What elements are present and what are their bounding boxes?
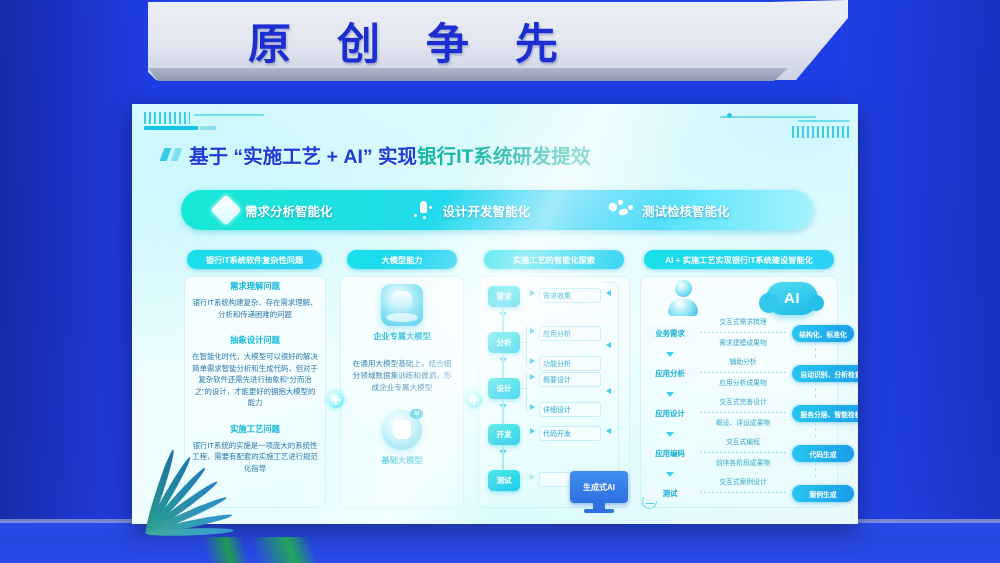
tag-vline	[815, 382, 816, 400]
flow-left-arrow	[606, 388, 611, 394]
flow-task-code-development[interactable]: 代码开发	[539, 426, 601, 441]
column-header-process-exploration[interactable]: 实施工艺的智能化探索	[484, 250, 624, 269]
stage-application-design[interactable]: 应用设计	[644, 406, 696, 421]
flow-right-arrow	[530, 374, 535, 380]
pill-design-development[interactable]: 设计开发智能化	[411, 199, 531, 221]
column-4-content: AI 业务需求 交互式需求梳理 需求建模成果物 结构化、标准化 应用分析 辅助分…	[644, 280, 836, 506]
artifact-top-3: 交互式完善设计	[700, 396, 786, 406]
stage-down-arrow	[666, 392, 674, 397]
ai-tag-code-generation[interactable]: 代码生成	[792, 445, 854, 462]
banner-bottom-edge	[148, 68, 788, 81]
poster-board: 基于 “实施工艺 + AI” 实现银行IT系统研发提效 需求分析智能化 设计开发…	[132, 104, 858, 524]
body-requirement-understanding: 银行IT系统构建复杂、存在需求理解、分析和传递困难的问题	[188, 297, 322, 320]
wall-shadow-right	[840, 0, 1000, 563]
flow-right-arrow	[530, 328, 535, 334]
flow-left-arrow	[606, 428, 611, 434]
flow-vline	[502, 399, 504, 425]
artifact-top-1: 交互式需求梳理	[700, 316, 786, 326]
artifact-bottom-4: 前序各阶段成果物	[700, 457, 786, 467]
poster-title-accent: 银行IT系统研发提效	[417, 146, 590, 168]
artifact-bottom-1: 需求建模成果物	[700, 337, 786, 347]
flow-right-arrow	[530, 404, 535, 410]
enterprise-model-robot-icon	[381, 284, 423, 326]
tag-vline	[815, 422, 816, 440]
tech-decoration-top-right	[690, 114, 850, 140]
ai-tag-case-generation[interactable]: 案例生成	[792, 485, 854, 502]
dotted-connector	[700, 492, 786, 493]
column-header-ai-implementation[interactable]: AI + 实施工艺实现银行IT系统建设智能化	[644, 250, 834, 269]
flow-left-arrow	[606, 290, 611, 296]
stage-application-analysis[interactable]: 应用分析	[644, 366, 696, 381]
flow-brace	[526, 372, 527, 412]
flow-stage-test[interactable]: 测试	[488, 470, 520, 491]
check-icon	[608, 199, 634, 221]
column-2-content: 企业专属大模型 在通用大模型基础上，结合细分领域数据集训练和微调，形成企业专属大…	[344, 282, 460, 466]
flow-task-function-analysis[interactable]: 功能分析	[539, 356, 601, 371]
dotted-connector	[700, 372, 786, 373]
stage-test[interactable]: 测试	[644, 486, 696, 501]
body-llm-capability: 在通用大模型基础上，结合细分领域数据集训练和微调，形成企业专属大模型	[350, 358, 454, 394]
poster-title-main: 基于 “实施工艺 + AI” 实现	[189, 146, 417, 168]
flow-stage-requirement[interactable]: 需求	[488, 286, 520, 307]
poster-title: 基于 “实施工艺 + AI” 实现银行IT系统研发提效	[162, 140, 590, 169]
diamond-icon	[210, 194, 241, 225]
avatar-body	[668, 299, 698, 316]
artifact-bottom-2: 应用分析成果物	[700, 377, 786, 387]
artifact-top-2: 辅助分析	[700, 356, 786, 366]
flow-brace	[526, 326, 527, 366]
spark-icon	[411, 199, 435, 221]
dotted-connector	[700, 412, 786, 413]
dotted-connector	[700, 332, 786, 333]
flow-right-arrow	[530, 358, 535, 364]
ai-cloud-icon: AI	[766, 282, 818, 315]
stage-down-arrow	[666, 352, 674, 357]
flow-stage-design[interactable]: 设计	[488, 378, 520, 399]
body-abstract-design: 在智能化时代，大模型可以很好的解决简单需求智能分析和生成代码，但对于复杂软件还需…	[188, 351, 322, 409]
stage-down-arrow	[666, 432, 674, 437]
artifact-top-4: 交互式编程	[700, 436, 786, 446]
pill-requirement-analysis[interactable]: 需求分析智能化	[215, 199, 333, 221]
flow-task-application-analysis[interactable]: 应用分析	[539, 326, 601, 341]
user-avatar-icon	[666, 280, 700, 320]
dotted-connector	[700, 452, 786, 453]
flow-vline	[502, 307, 504, 333]
column-header-llm-capability[interactable]: 大模型能力	[347, 250, 457, 269]
monitor-base	[584, 509, 614, 513]
flow-right-arrow	[530, 290, 535, 296]
generative-ai-monitor[interactable]: 生成式AI	[570, 471, 628, 515]
tag-vline	[815, 342, 816, 360]
tech-decoration-top-left	[144, 112, 284, 134]
flow-vline	[502, 445, 504, 471]
wall-shadow-left	[0, 0, 150, 563]
flow-hline	[520, 342, 527, 343]
stage-application-coding[interactable]: 应用编码	[644, 446, 696, 461]
avatar-head	[675, 280, 692, 297]
subhead-requirement-understanding: 需求理解问题	[188, 280, 322, 292]
subhead-implementation-process: 实施工艺问题	[188, 423, 322, 435]
ai-tag-service-layering[interactable]: 服务分层、智能检核	[792, 405, 858, 422]
subhead-abstract-design: 抽象设计问题	[188, 334, 322, 346]
artifact-top-5: 交互式案例设计	[700, 476, 786, 486]
tag-vline	[815, 462, 816, 480]
feature-pill-bar: 需求分析智能化 设计开发智能化 测试检核智能化	[181, 190, 813, 230]
flow-stage-development[interactable]: 开发	[488, 424, 520, 445]
flow-hline	[520, 388, 527, 389]
pill-test-verification[interactable]: 测试检核智能化	[608, 199, 730, 221]
column-header-complexity[interactable]: 银行IT系统软件复杂性问题	[187, 250, 322, 269]
plus-connector-icon	[466, 392, 482, 408]
flow-right-arrow	[530, 428, 535, 434]
pill-label: 设计开发智能化	[443, 201, 531, 220]
ai-tag-auto-recognition[interactable]: 自动识别、分析检查	[792, 365, 858, 382]
caption-base-model: 基础大模型	[344, 454, 460, 466]
floor	[0, 521, 1000, 563]
body-implementation-process: 银行IT系统的实施是一项庞大的系统性工程，需要有配套的实施工艺进行规范化指导	[188, 440, 322, 475]
ai-badge: AI	[410, 409, 423, 419]
column-1-content: 需求理解问题 银行IT系统构建复杂、存在需求理解、分析和传递困难的问题 抽象设计…	[188, 280, 322, 488]
flow-stage-analysis[interactable]: 分析	[488, 332, 520, 353]
ai-tag-structured-standard[interactable]: 结构化、标准化	[792, 325, 854, 342]
generative-ai-label: 生成式AI	[570, 471, 628, 503]
plus-connector-icon	[328, 392, 344, 408]
flow-task-requirement-collection[interactable]: 需求收集	[539, 288, 601, 303]
stage-down-arrow	[666, 472, 674, 477]
flow-task-detailed-design[interactable]: 详细设计	[539, 402, 601, 417]
flow-vline	[502, 353, 504, 379]
stage-business-requirement[interactable]: 业务需求	[644, 326, 696, 341]
base-model-robot-icon: AI	[382, 410, 422, 450]
flow-right-arrow	[530, 474, 535, 480]
caption-enterprise-model: 企业专属大模型	[344, 330, 460, 342]
flow-left-arrow	[606, 342, 611, 348]
artifact-bottom-3: 概设、详设成果物	[700, 417, 786, 427]
pill-label: 测试检核智能化	[642, 201, 730, 220]
flow-task-outline-design[interactable]: 概要设计	[539, 372, 601, 387]
title-slash-icon	[160, 148, 183, 161]
pill-label: 需求分析智能化	[245, 201, 333, 220]
